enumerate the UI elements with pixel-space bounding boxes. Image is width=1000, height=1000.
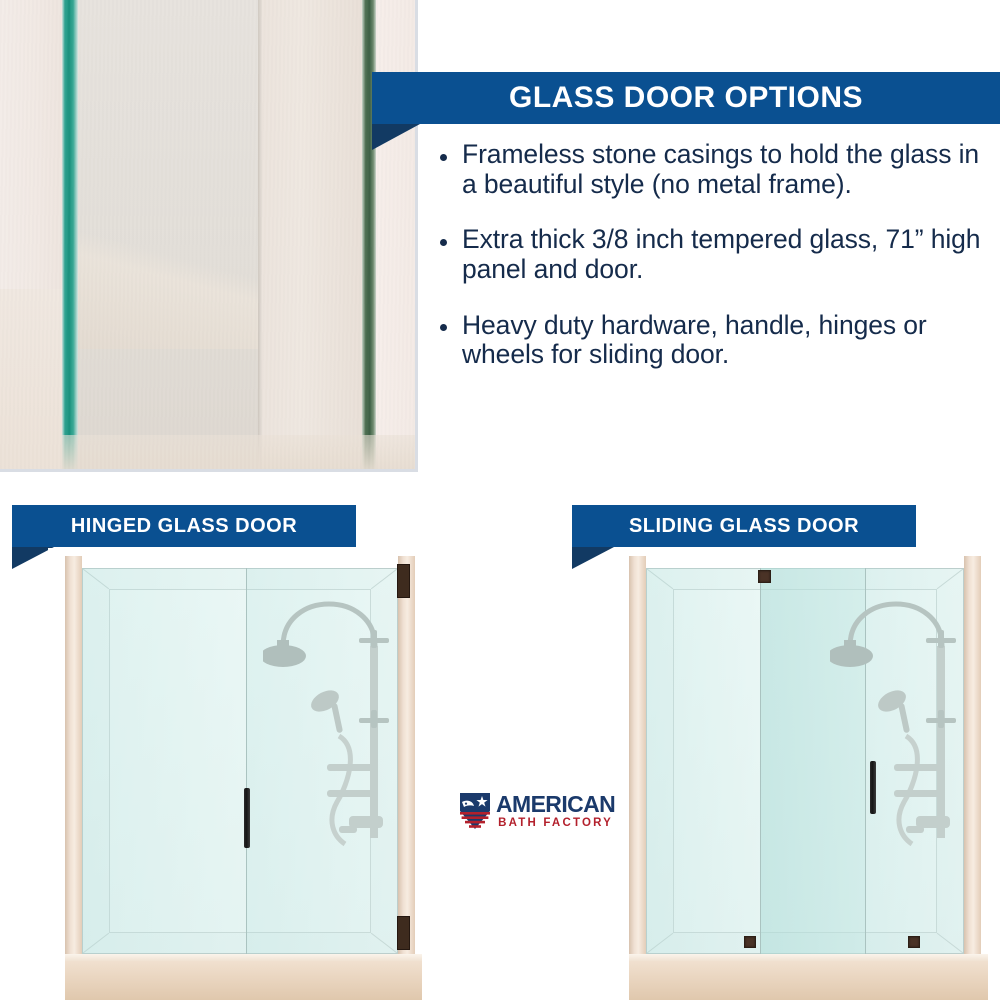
bullet-dot-icon [440,154,447,161]
feature-text-1: Frameless stone casings to hold the glas… [462,139,979,199]
stone-casing-left [629,556,646,958]
sliding-door-title: SLIDING GLASS DOOR [629,515,859,538]
sliding-shower-illustration [612,548,998,1000]
door-handle-icon [870,761,876,814]
photo-wall-right [376,0,418,469]
main-title-bar: GLASS DOOR OPTIONS [372,72,1000,124]
diverter-arm-1 [327,764,375,771]
photo-glass-edge-green [362,0,376,469]
bullet-dot-icon [440,239,447,246]
feature-item-3: Heavy duty hardware, handle, hinges or w… [436,311,998,370]
eagle-flag-shield-icon [458,791,492,831]
shower-fixture [263,568,403,858]
roller-block-icon-bottom-right [908,936,920,948]
roller-block-icon-bottom-left [744,936,756,948]
photo-glass-panel [78,0,258,469]
page-title: GLASS DOOR OPTIONS [509,81,863,115]
feature-list: Frameless stone casings to hold the glas… [436,140,998,396]
banner-fold-shape [572,547,614,569]
diverter-arm-2 [327,790,375,797]
brand-name-secondary: BATH FACTORY [496,818,615,830]
riser-pipe [370,646,378,838]
stone-threshold [65,954,422,1000]
brand-name-primary: AMERICAN [496,793,615,816]
hinged-shower-illustration [48,548,432,1000]
photo-wall-middle [262,0,362,469]
brand-wordmark: AMERICAN BATH FACTORY [496,793,615,830]
photo-floor-band [62,435,415,469]
brand-logo: AMERICAN BATH FACTORY [458,787,604,835]
tub-spout [906,826,924,833]
hinged-door-title: HINGED GLASS DOOR [71,515,297,538]
hinged-door-banner: HINGED GLASS DOOR [12,505,356,547]
banner-fold-shape [372,124,420,150]
hinge-icon-bottom [397,916,410,950]
bullet-dot-icon [440,324,447,331]
riser-pipe [937,646,945,838]
feature-item-2: Extra thick 3/8 inch tempered glass, 71”… [436,225,998,284]
feature-text-3: Heavy duty hardware, handle, hinges or w… [462,310,927,370]
sliding-door-banner: SLIDING GLASS DOOR [572,505,916,547]
diverter-arm-2 [894,790,942,797]
sliding-door-bar: SLIDING GLASS DOOR [572,505,916,547]
stone-threshold [629,954,988,1000]
feature-item-1: Frameless stone casings to hold the glas… [436,140,998,199]
glass-edge-photo [0,0,418,472]
tub-spout [339,826,357,833]
shower-fixture [830,568,970,858]
door-handle-icon [244,788,250,848]
hinge-icon-top [397,564,410,598]
feature-text-2: Extra thick 3/8 inch tempered glass, 71”… [462,224,980,284]
photo-glass-edge-teal [62,0,78,469]
hinged-door-bar: HINGED GLASS DOOR [12,505,356,547]
photo-floor-left [0,289,64,469]
diverter-arm-1 [894,764,942,771]
main-title-banner: GLASS DOOR OPTIONS [372,72,1000,124]
roller-block-icon-top [758,570,771,583]
poster-root: GLASS DOOR OPTIONS Frameless stone casin… [0,0,1000,1000]
stone-casing-left [65,556,82,958]
